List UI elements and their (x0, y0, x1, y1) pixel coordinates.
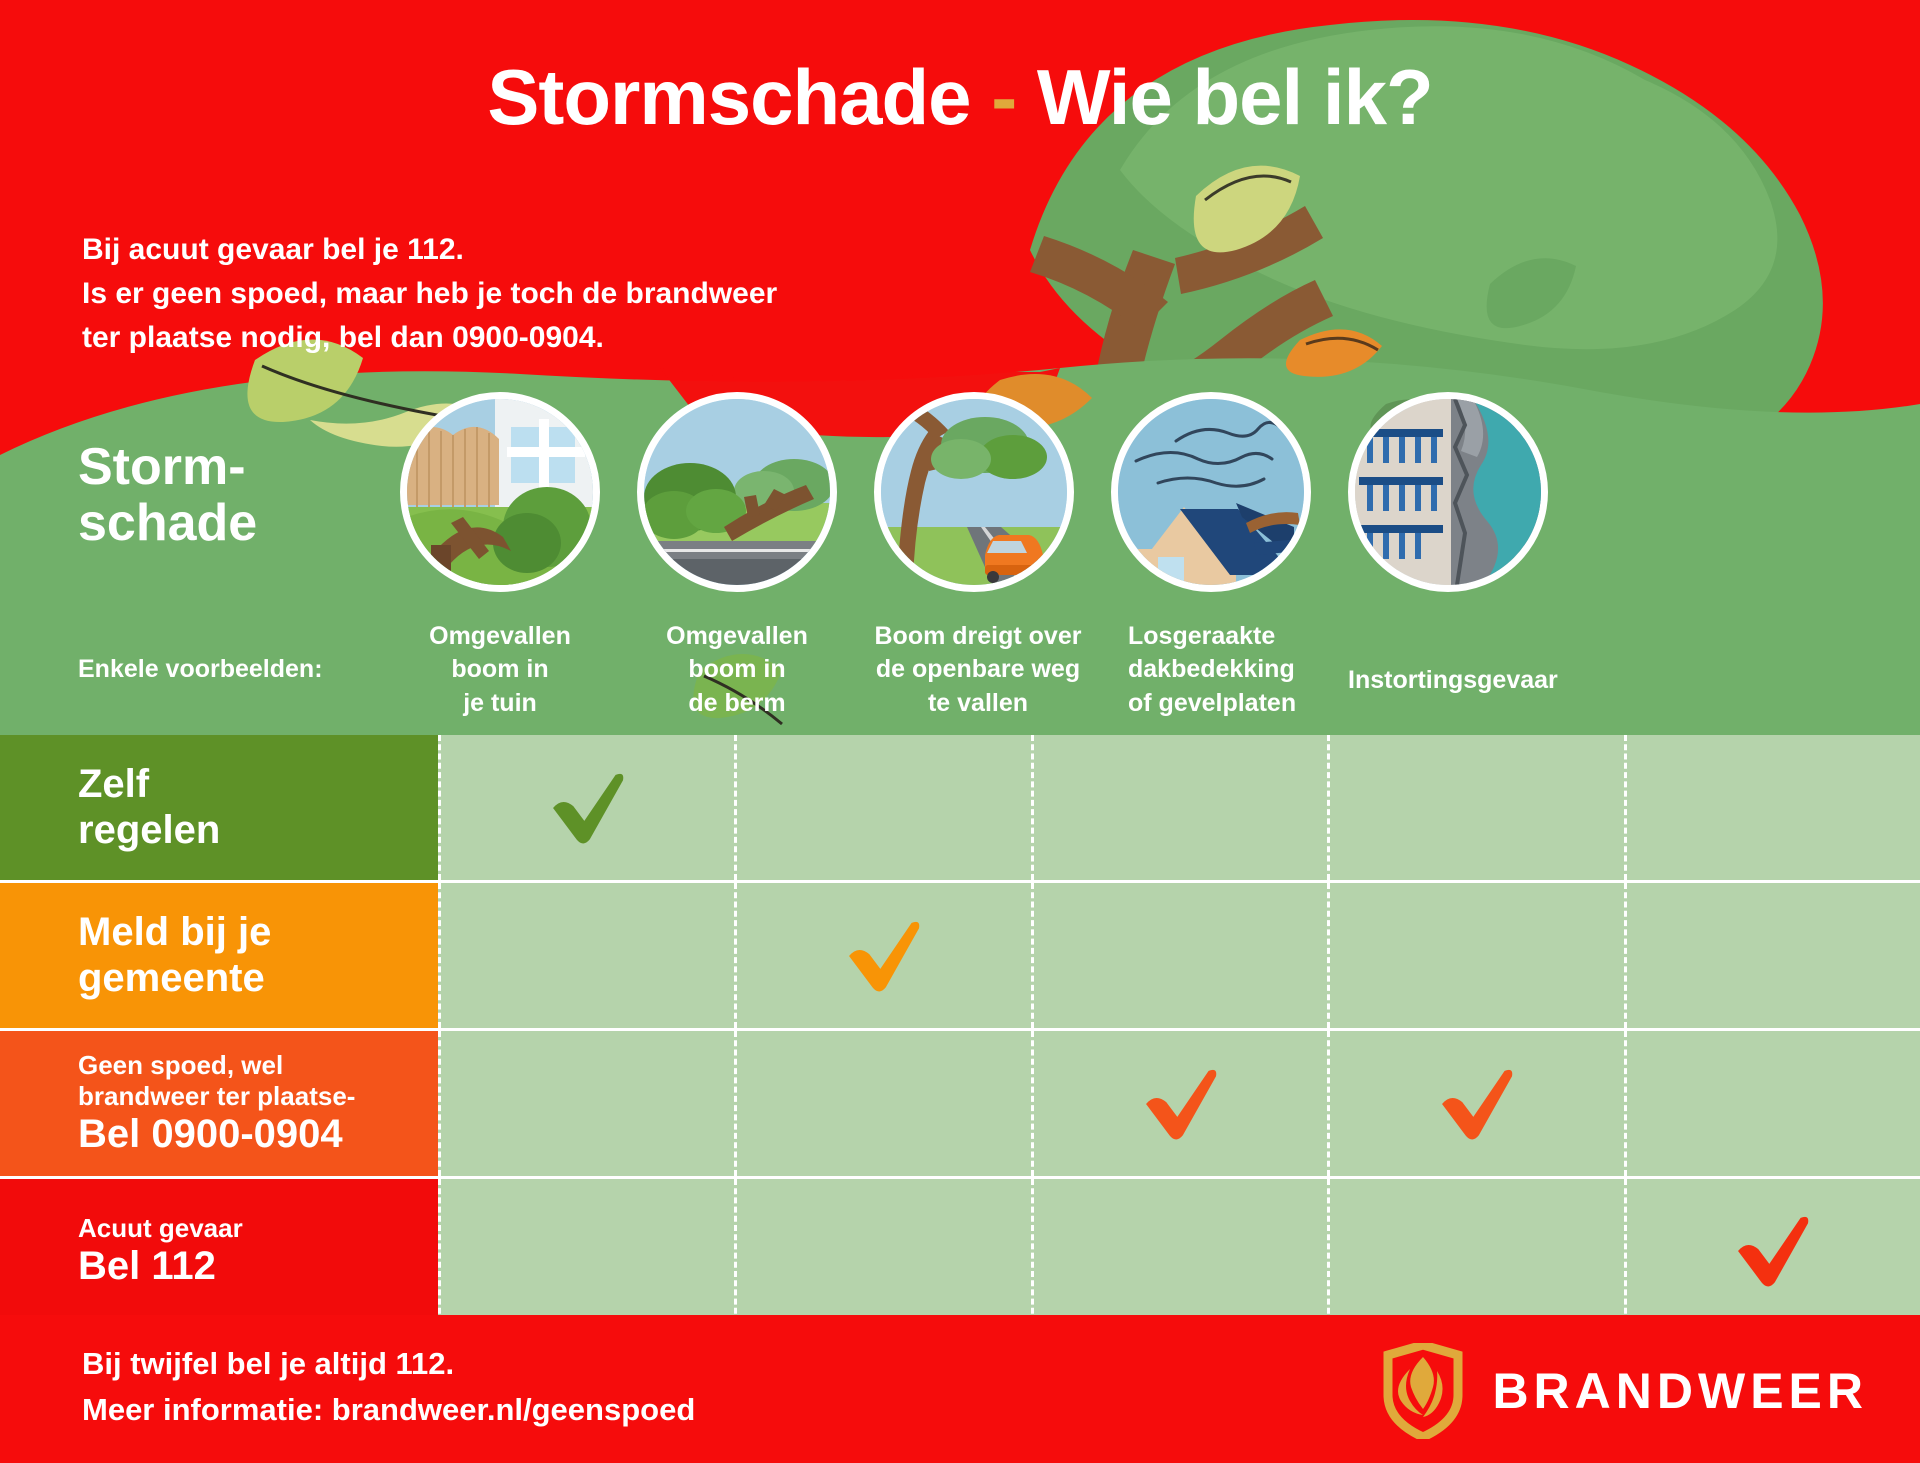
title-sub: Wie bel ik? (1037, 53, 1433, 141)
col3-line3: of gevelplaten (1128, 687, 1378, 720)
cell-r3c1[interactable] (737, 1179, 1033, 1323)
column-headers: Enkele voorbeelden: Omgevallen boom in j… (0, 620, 1920, 735)
row2-label-1: Bel 0900-0904 (78, 1112, 438, 1158)
flying-leaf-icon (1286, 329, 1382, 377)
row0-label-1: Zelf (78, 762, 438, 808)
column-header-3: Losgeraakte dakbedekking of gevelplaten (1128, 620, 1378, 720)
row1-label-1: Meld bij je (78, 910, 438, 956)
category-line-1: Storm- (78, 440, 257, 496)
col4-line1: Instortingsgevaar (1348, 664, 1648, 697)
col3-line1: Losgeraakte (1128, 620, 1378, 653)
cell-r0c4[interactable] (1627, 735, 1920, 880)
cell-r3c3[interactable] (1330, 1179, 1626, 1323)
check-icon (1727, 1205, 1819, 1297)
cell-r1c1[interactable] (737, 883, 1033, 1028)
loose-roofing-icon (1111, 392, 1311, 592)
row2-cells (438, 1031, 1920, 1179)
row2-small-1: Geen spoed, wel (78, 1050, 438, 1081)
row3-small-1: Acuut gevaar (78, 1213, 438, 1244)
cell-r0c0[interactable] (438, 735, 737, 880)
col1-line3: de berm (612, 687, 862, 720)
row0-label-2: regelen (78, 808, 438, 854)
check-icon (542, 762, 634, 854)
brandweer-logo: BRANDWEER (1380, 1343, 1868, 1439)
row-label-acuut-gevaar: Acuut gevaar Bel 112 (0, 1179, 438, 1323)
category-line-2: schade (78, 496, 257, 552)
footer: Bij twijfel bel je altijd 112. Meer info… (0, 1315, 1920, 1463)
table-row: Acuut gevaar Bel 112 (0, 1179, 1920, 1323)
col3-line2: dakbedekking (1128, 653, 1378, 686)
row-label-zelf-regelen: Zelf regelen (0, 735, 438, 883)
cell-r0c2[interactable] (1034, 735, 1330, 880)
collapse-risk-icon (1348, 392, 1548, 592)
cell-r3c2[interactable] (1034, 1179, 1330, 1323)
row-label-meld-bij-je-gemeente: Meld bij je gemeente (0, 883, 438, 1031)
row3-cells (438, 1179, 1920, 1323)
fallen-tree-in-garden-icon (400, 392, 600, 592)
category-label: Storm- schade (78, 440, 257, 551)
footer-line-1: Bij twijfel bel je altijd 112. (82, 1341, 695, 1387)
row-label-geen-spoed: Geen spoed, wel brandweer ter plaatse- B… (0, 1031, 438, 1179)
row0-cells (438, 735, 1920, 883)
intro-text: Bij acuut gevaar bel je 112. Is er geen … (82, 228, 777, 360)
cell-r1c2[interactable] (1034, 883, 1330, 1028)
examples-label: Enkele voorbeelden: (78, 655, 323, 684)
col2-line3: te vallen (843, 687, 1113, 720)
col0-line1: Omgevallen (375, 620, 625, 653)
flying-leaf-icon (1487, 258, 1576, 328)
cell-r2c0[interactable] (438, 1031, 737, 1176)
flying-leaf-icon (1194, 166, 1300, 253)
page-title: Stormschade - Wie bel ik? (0, 52, 1920, 143)
column-header-1: Omgevallen boom in de berm (612, 620, 862, 720)
footer-line-2: Meer informatie: brandweer.nl/geenspoed (82, 1387, 695, 1433)
title-dash: - (991, 53, 1016, 141)
cell-r0c3[interactable] (1330, 735, 1626, 880)
check-icon (838, 910, 930, 1002)
stormschade-infographic: Stormschade - Wie bel ik? Bij acuut geva… (0, 0, 1920, 1463)
footer-text: Bij twijfel bel je altijd 112. Meer info… (82, 1341, 695, 1432)
column-header-4: Instortingsgevaar (1348, 664, 1648, 697)
advice-matrix: Zelf regelen Meld bij je gemeente (0, 735, 1920, 1315)
col2-line2: de openbare weg (843, 653, 1113, 686)
row2-small-2: brandweer ter plaatse- (78, 1081, 438, 1112)
brandweer-flame-shield-icon (1380, 1343, 1466, 1439)
col1-line2: boom in (612, 653, 862, 686)
cell-r2c2[interactable] (1034, 1031, 1330, 1176)
cell-r1c4[interactable] (1627, 883, 1920, 1028)
intro-line-3: ter plaatse nodig, bel dan 0900-0904. (82, 316, 777, 360)
example-icons-row (0, 392, 1920, 612)
check-icon (1431, 1058, 1523, 1150)
intro-line-1: Bij acuut gevaar bel je 112. (82, 228, 777, 272)
intro-line-2: Is er geen spoed, maar heb je toch de br… (82, 272, 777, 316)
cell-r1c0[interactable] (438, 883, 737, 1028)
table-row: Geen spoed, wel brandweer ter plaatse- B… (0, 1031, 1920, 1179)
col0-line3: je tuin (375, 687, 625, 720)
brand-name: BRANDWEER (1492, 1362, 1868, 1420)
tree-threatening-road-icon (874, 392, 1074, 592)
cell-r2c3[interactable] (1330, 1031, 1626, 1176)
row3-label-1: Bel 112 (78, 1244, 438, 1290)
fallen-tree-on-verge-icon (637, 392, 837, 592)
col1-line1: Omgevallen (612, 620, 862, 653)
row1-cells (438, 883, 1920, 1031)
cell-r3c0[interactable] (438, 1179, 737, 1323)
column-header-0: Omgevallen boom in je tuin (375, 620, 625, 720)
cell-r1c3[interactable] (1330, 883, 1626, 1028)
check-icon (1135, 1058, 1227, 1150)
title-main: Stormschade (487, 53, 970, 141)
cell-r2c4[interactable] (1627, 1031, 1920, 1176)
col0-line2: boom in (375, 653, 625, 686)
col2-line1: Boom dreigt over (843, 620, 1113, 653)
table-row: Zelf regelen (0, 735, 1920, 883)
cell-r2c1[interactable] (737, 1031, 1033, 1176)
row1-label-2: gemeente (78, 956, 438, 1002)
cell-r3c4[interactable] (1627, 1179, 1920, 1323)
column-header-2: Boom dreigt over de openbare weg te vall… (843, 620, 1113, 720)
table-row: Meld bij je gemeente (0, 883, 1920, 1031)
cell-r0c1[interactable] (737, 735, 1033, 880)
